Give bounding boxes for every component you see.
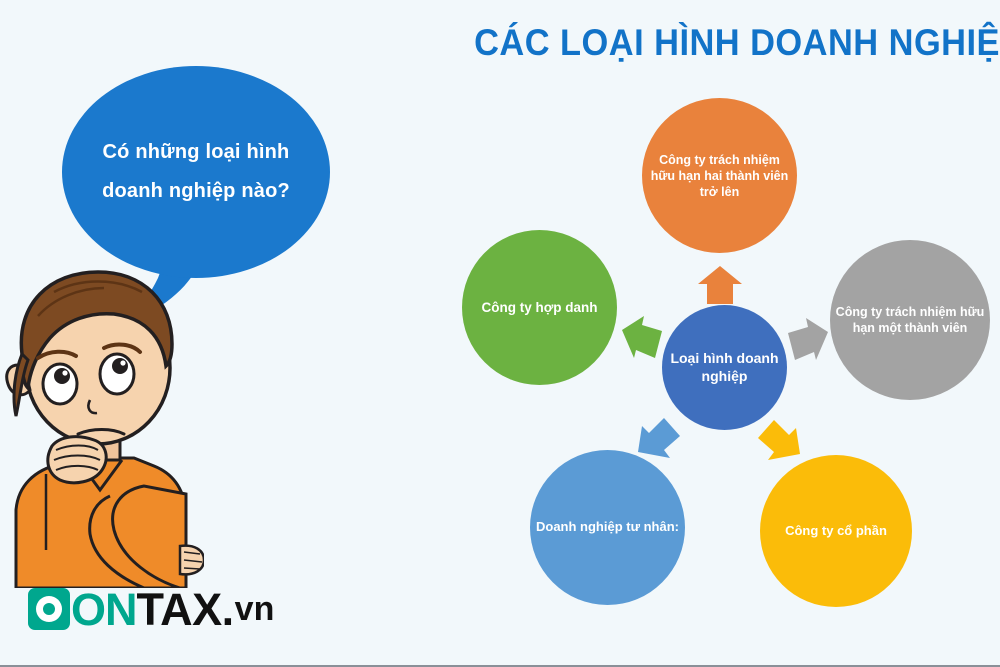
business-types-diagram: Công ty trách nhiệm hữu hạn hai thành vi… [440, 80, 1000, 640]
arrow-down-right-icon [756, 420, 802, 464]
speech-bubble-line-2: doanh nghiệp nào? [102, 172, 290, 211]
node-llc-two-or-more-members[interactable]: Công ty trách nhiệm hữu hạn hai thành vi… [642, 98, 797, 253]
node-top-label: Công ty trách nhiệm hữu hạn hai thành vi… [646, 152, 793, 200]
node-bottom-right-label: Công ty cổ phần [785, 523, 887, 540]
speech-bubble-line-1: Có những loại hình [103, 133, 290, 172]
logo-dot [43, 603, 55, 615]
arrow-down-left-icon [636, 418, 680, 462]
arrow-right-icon [786, 318, 828, 360]
ontax-logo[interactable]: ON TAX. vn [28, 586, 274, 632]
speech-bubble-text: Có những loại hình doanh nghiệp nào? [62, 66, 330, 278]
page-title: CÁC LOẠI HÌNH DOANH NGHIỆP [474, 22, 981, 64]
infographic-canvas: CÁC LOẠI HÌNH DOANH NGHIỆP Có những loại… [0, 0, 1000, 667]
node-llc-single-member[interactable]: Công ty trách nhiệm hữu hạn một thành vi… [830, 240, 990, 400]
node-right-label: Công ty trách nhiệm hữu hạn một thành vi… [834, 304, 986, 336]
speech-bubble: Có những loại hình doanh nghiệp nào? [62, 66, 330, 278]
node-joint-stock-company[interactable]: Công ty cổ phần [760, 455, 912, 607]
arrow-up-icon [698, 266, 742, 304]
ontax-logo-mark-icon [28, 588, 70, 630]
node-center-business-types[interactable]: Loại hình doanh nghiệp [662, 305, 787, 430]
arrow-left-icon [622, 316, 662, 358]
logo-tax-text: TAX. [137, 587, 234, 632]
node-private-enterprise[interactable]: Doanh nghiệp tư nhân: [530, 450, 685, 605]
logo-vn-text: vn [235, 592, 275, 626]
node-left-label: Công ty hợp danh [481, 299, 597, 316]
node-partnership-company[interactable]: Công ty hợp danh [462, 230, 617, 385]
node-bottom-left-label: Doanh nghiệp tư nhân: [536, 519, 679, 536]
logo-ring [36, 596, 62, 622]
thinking-boy-illustration [0, 258, 204, 588]
node-center-label: Loại hình doanh nghiệp [666, 350, 783, 386]
logo-on-text: ON [71, 587, 137, 632]
